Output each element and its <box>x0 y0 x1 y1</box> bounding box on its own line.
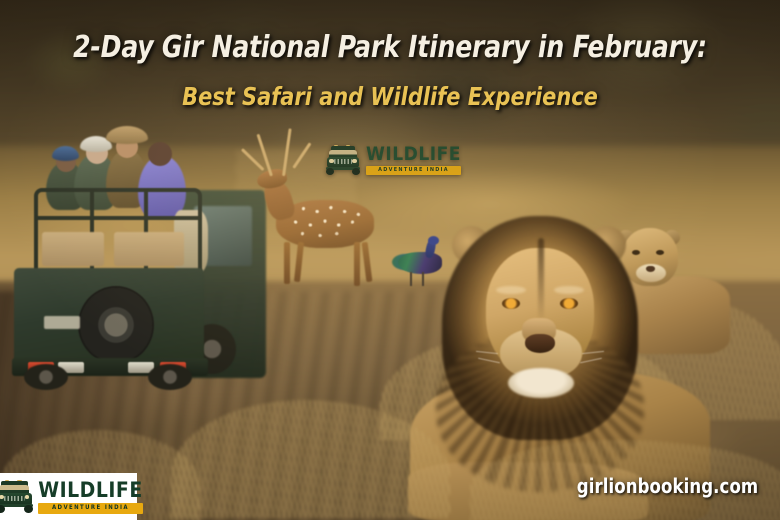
safari-scene-photo <box>0 0 780 520</box>
safari-jeep-icon <box>325 145 361 175</box>
brand-logo-card[interactable]: WILDLIFE ADVENTURE INDIA <box>0 473 137 520</box>
website-url[interactable]: girlionbooking.com <box>577 474 758 498</box>
brand-tagline-ribbon: ADVENTURE INDIA <box>366 166 461 176</box>
center-watermark-logo: WILDLIFE ADVENTURE INDIA <box>332 141 454 179</box>
wildlife-adventure-india-logo: WILDLIFE ADVENTURE INDIA <box>325 145 461 176</box>
brand-name: WILDLIFE <box>38 480 142 501</box>
brand-name: WILDLIFE <box>366 145 461 164</box>
poster-canvas: WILDLIFE ADVENTURE INDIA 2-Day Gir Natio… <box>0 0 780 520</box>
poster-subheadline: Best Safari and Wildlife Experience <box>27 82 752 112</box>
vignette-overlay <box>0 0 780 520</box>
logo-wordmark: WILDLIFE ADVENTURE INDIA <box>38 480 142 514</box>
poster-headline: 2-Day Gir National Park Itinerary in Feb… <box>27 30 752 66</box>
brand-tagline-ribbon: ADVENTURE INDIA <box>38 503 142 514</box>
safari-jeep-icon <box>0 480 34 513</box>
wildlife-adventure-india-logo: WILDLIFE ADVENTURE INDIA <box>0 480 143 514</box>
logo-wordmark: WILDLIFE ADVENTURE INDIA <box>366 145 461 176</box>
